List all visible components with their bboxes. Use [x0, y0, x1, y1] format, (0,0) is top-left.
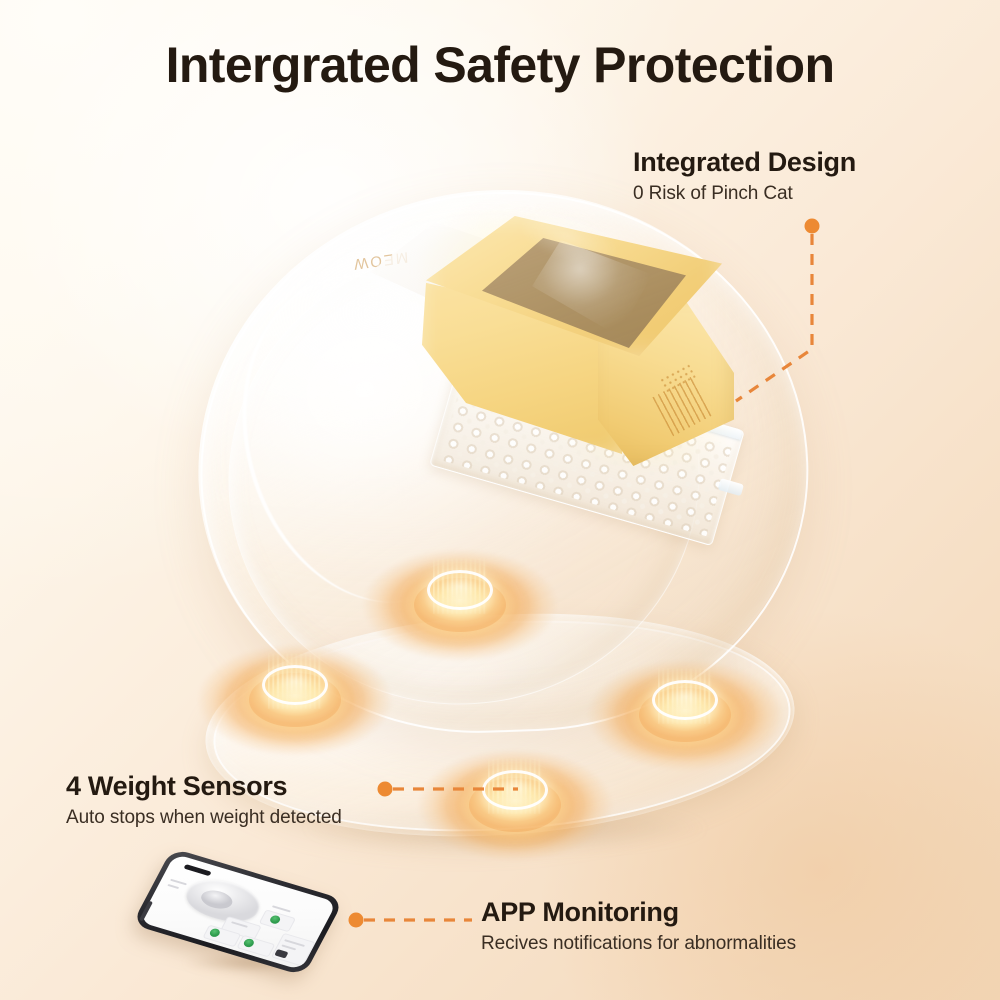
callout-app-monitoring: APP Monitoring Recives notifications for… [481, 897, 796, 955]
callout-subtext: Recives notifications for abnormalities [481, 933, 796, 955]
connector-dot [349, 913, 364, 928]
callout-weight-sensors: 4 Weight Sensors Auto stops when weight … [66, 771, 342, 829]
connector-app-monitoring [349, 913, 473, 928]
callout-heading: APP Monitoring [481, 897, 796, 928]
app-info-card [236, 935, 275, 958]
callout-heading: 4 Weight Sensors [66, 771, 342, 802]
connector-dot [805, 219, 820, 234]
waste-drawer [422, 216, 734, 464]
page-title: Intergrated Safety Protection [0, 36, 1000, 94]
app-text-line [167, 884, 179, 889]
app-monitoring-phone-mockup [146, 866, 342, 986]
callout-integrated-design: Integrated Design 0 Risk of Pinch Cat [633, 147, 856, 205]
phone-notch [183, 864, 211, 876]
callout-subtext: 0 Risk of Pinch Cat [633, 183, 856, 205]
infographic-canvas: Intergrated Safety Protection MEOW [0, 0, 1000, 1000]
phone-screen [139, 854, 337, 970]
callout-subtext: Auto stops when weight detected [66, 807, 342, 829]
callout-heading: Integrated Design [633, 147, 856, 178]
